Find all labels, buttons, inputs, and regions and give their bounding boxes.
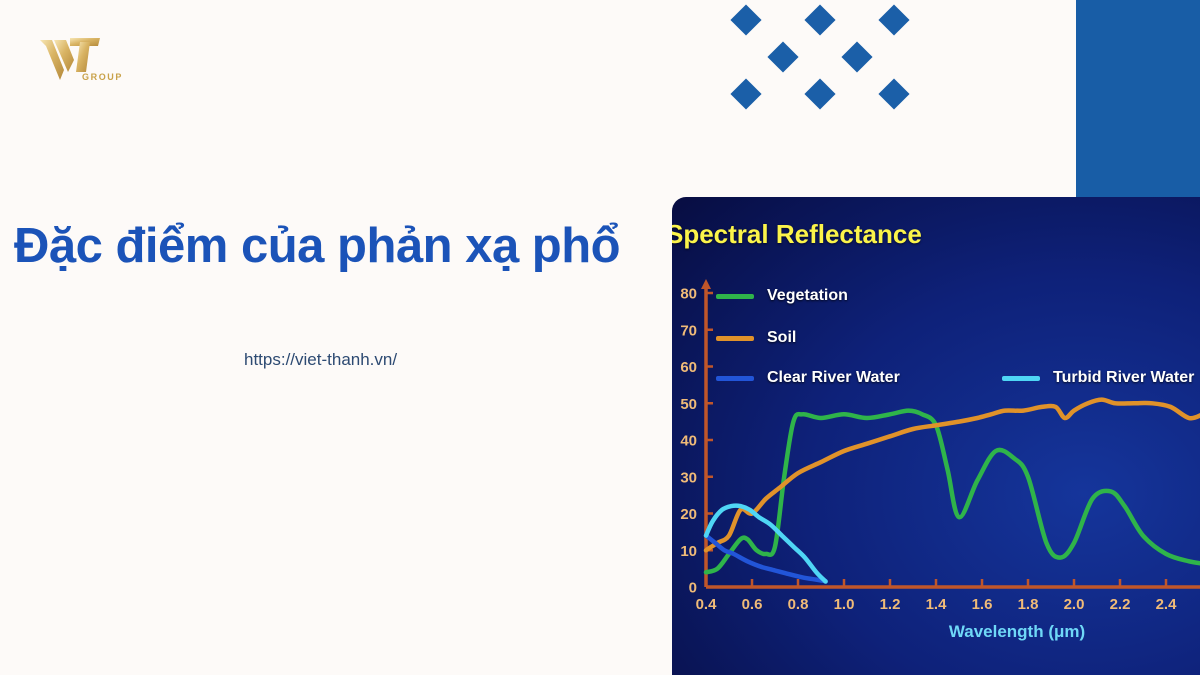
brand-logo: GROUP [36, 34, 128, 90]
series-vegetation [706, 411, 1200, 573]
x-axis-title: Wavelength (μm) [949, 622, 1085, 641]
diamond-icon [767, 41, 798, 72]
series-lines [706, 400, 1200, 582]
svg-text:1.8: 1.8 [1018, 596, 1039, 613]
svg-text:0: 0 [689, 580, 697, 597]
svg-text:1.0: 1.0 [834, 596, 855, 613]
svg-text:2.0: 2.0 [1064, 596, 1085, 613]
diamond-icon [730, 4, 761, 35]
svg-text:30: 30 [680, 469, 697, 486]
plot-area: 010203040506070800.40.60.81.01.21.41.61.… [672, 197, 1200, 675]
svg-text:1.2: 1.2 [880, 596, 901, 613]
slide-canvas: GROUP Đặc điểm của phản xạ phổ https://v… [0, 0, 1200, 675]
diamond-icon [804, 4, 835, 35]
svg-text:20: 20 [680, 506, 697, 523]
svg-text:10: 10 [680, 543, 697, 560]
diamond-pattern [725, 0, 925, 125]
svg-text:60: 60 [680, 359, 697, 376]
svg-text:80: 80 [680, 286, 697, 303]
svg-text:1.4: 1.4 [926, 596, 948, 613]
svg-text:2.4: 2.4 [1156, 596, 1178, 613]
diamond-icon [878, 4, 909, 35]
svg-text:1.6: 1.6 [972, 596, 993, 613]
spectral-reflectance-chart: Spectral Reflectance Vegetation Soil Cle… [672, 197, 1200, 675]
svg-text:50: 50 [680, 396, 697, 413]
svg-text:0.4: 0.4 [696, 596, 718, 613]
diamond-icon [804, 78, 835, 109]
brand-wordmark: GROUP [82, 72, 123, 82]
diamond-icon [841, 41, 872, 72]
site-url-link[interactable]: https://viet-thanh.vn/ [244, 350, 397, 370]
svg-text:0.6: 0.6 [742, 596, 763, 613]
svg-text:0.8: 0.8 [788, 596, 809, 613]
page-title: Đặc điểm của phản xạ phổ [14, 218, 714, 274]
diamond-icon [878, 78, 909, 109]
accent-band [1076, 0, 1200, 201]
svg-text:70: 70 [680, 322, 697, 339]
svg-text:40: 40 [680, 433, 697, 450]
diamond-icon [730, 78, 761, 109]
svg-text:2.2: 2.2 [1110, 596, 1131, 613]
